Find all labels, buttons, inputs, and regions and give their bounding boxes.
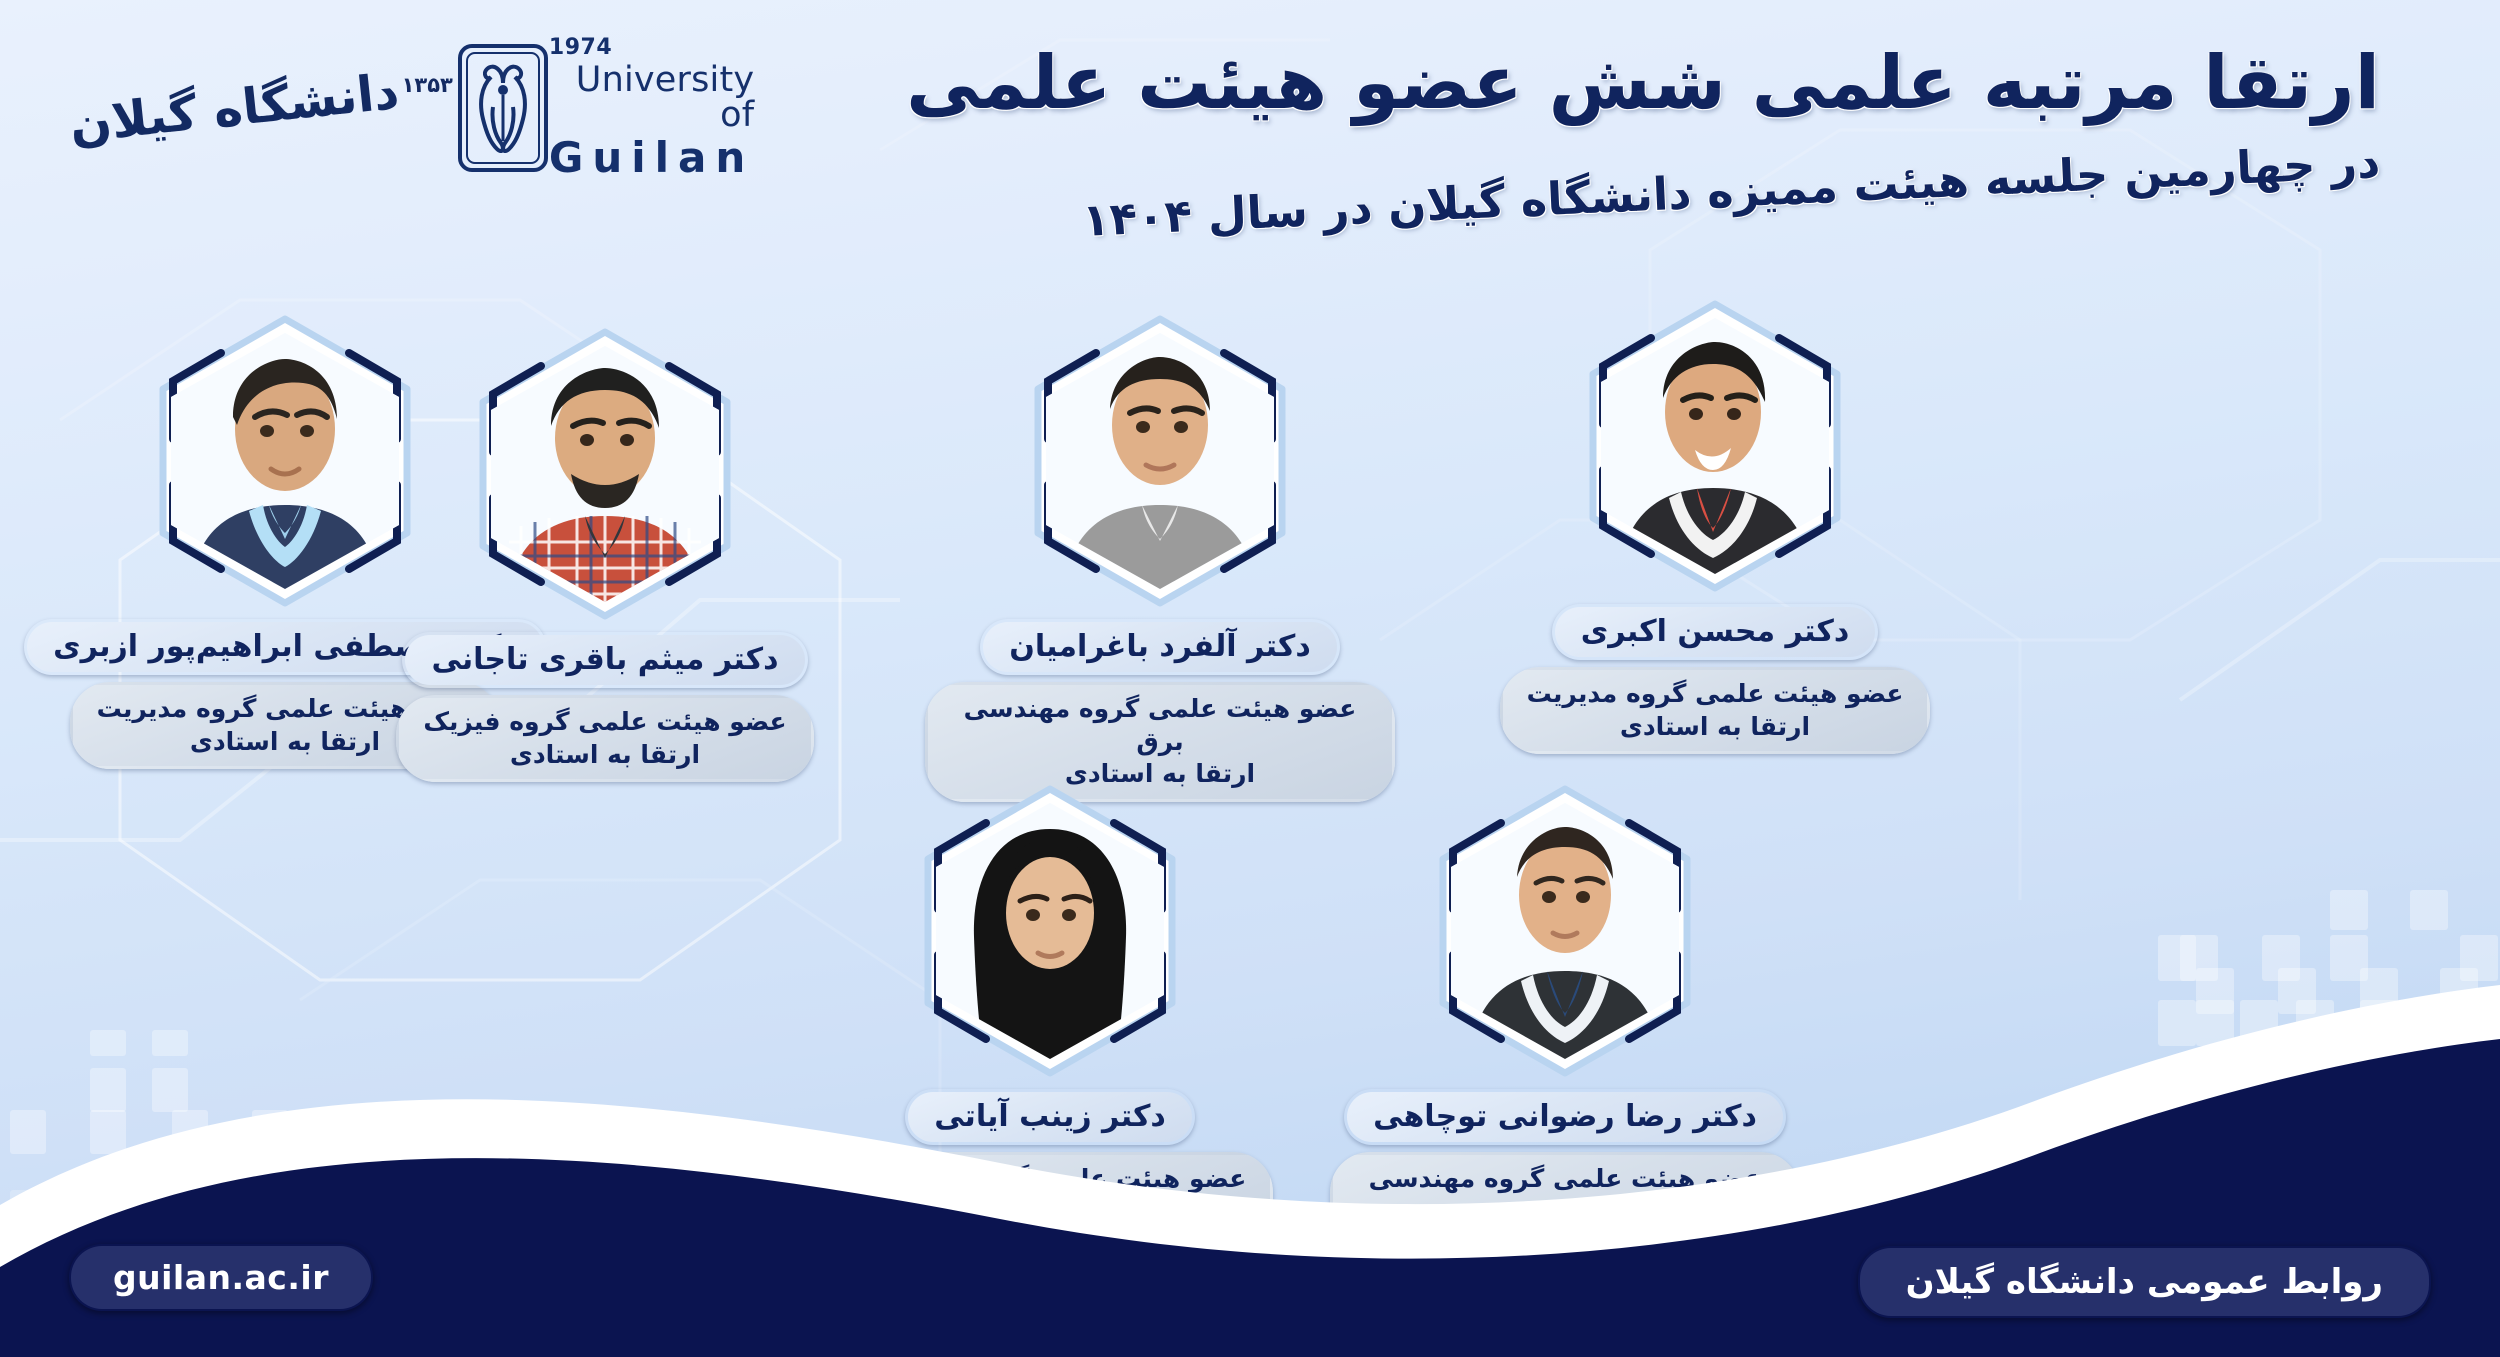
website-badge[interactable]: guilan.ac.ir — [68, 1243, 374, 1312]
person-role-line2: ارتقا به استادی — [1527, 711, 1904, 744]
logo-name-fa: دانشگاه گیلان — [67, 66, 401, 149]
page-title: ارتقا مرتبه علمی شش عضو هیئت علمی — [980, 42, 2380, 125]
university-logo: دانشگاه گیلان ۱۳۵۳ 1974 University of Gu… — [75, 28, 545, 188]
poster-canvas: دانشگاه گیلان ۱۳۵۳ 1974 University of Gu… — [0, 0, 2500, 1357]
person-role-line2: ارتقا به استادی — [423, 739, 786, 772]
person-role-line1: عضو هیئت علمی گروه مدیریت — [1527, 679, 1904, 708]
page-subtitle: در چهارمین جلسه هیئت ممیزه دانشگاه گیلان… — [980, 135, 2381, 252]
logo-guilan: Guilan — [549, 137, 754, 179]
public-relations-badge: روابط عمومی دانشگاه گیلان — [1857, 1245, 2432, 1319]
guilan-university-emblem-icon — [457, 43, 549, 173]
header-titles: ارتقا مرتبه علمی شش عضو هیئت علمی در چها… — [980, 42, 2380, 189]
photo-frame — [475, 328, 735, 620]
photo-frame — [1030, 315, 1290, 607]
person-role: عضو هیئت علمی گروه مدیریت ارتقا به استاد… — [1500, 667, 1931, 754]
logo-year-fa: ۱۳۵۳ — [402, 73, 453, 97]
logo-university-of: University of — [549, 63, 754, 133]
person-card: دکتر محسن اکبری عضو هیئت علمی گروه مدیری… — [1480, 300, 1950, 754]
person-name: دکتر آلفرد باغرامیان — [980, 619, 1340, 675]
person-name: دکتر محسن اکبری — [1552, 604, 1879, 660]
person-role-line1: عضو هیئت علمی گروه فیزیک — [423, 707, 786, 736]
logo-text-en: 1974 University of Guilan — [549, 37, 754, 179]
person-role: عضو هیئت علمی گروه فیزیک ارتقا به استادی — [396, 695, 813, 782]
person-role-line1: عضو هیئت علمی گروه مهندسی برق — [964, 694, 1357, 756]
person-card: دکتر آلفرد باغرامیان عضو هیئت علمی گروه … — [925, 315, 1395, 802]
person-role: عضو هیئت علمی گروه مهندسی برق ارتقا به ا… — [925, 682, 1395, 802]
logo-year-en: 1974 — [549, 37, 612, 59]
person-name: دکتر میثم باقری تاجانی — [402, 632, 807, 688]
person-card: دکتر میثم باقری تاجانی عضو هیئت علمی گرو… — [370, 328, 840, 782]
photo-frame — [1585, 300, 1845, 592]
